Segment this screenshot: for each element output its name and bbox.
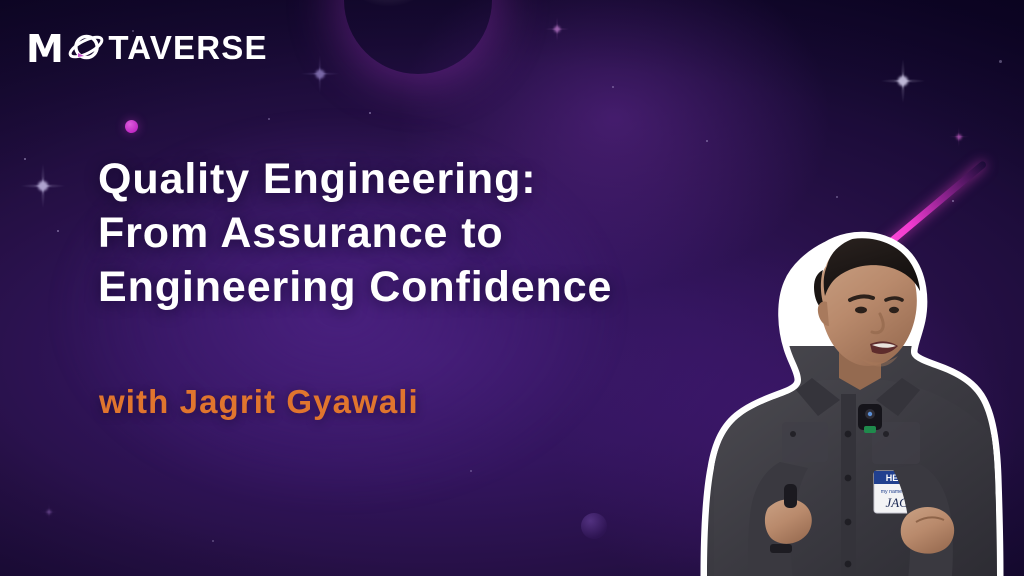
title-line-2: From Assurance to [98, 206, 758, 260]
page-title: Quality Engineering: From Assurance to E… [98, 152, 758, 315]
title-line-3: Engineering Confidence [98, 260, 758, 314]
title-line-1: Quality Engineering: [98, 152, 758, 206]
brand-logo-suffix: TAVERSE [108, 31, 267, 64]
presenter-credit: with Jagrit Gyawali [99, 385, 419, 418]
speaker-figure: HELLO my name is JAG [694, 235, 1006, 576]
speaker-photo: HELLO my name is JAG [694, 226, 1006, 576]
brand-logo[interactable]: M TAVERSE [26, 24, 268, 70]
saturn-planet-icon [65, 26, 107, 68]
slide-canvas: M TAVERSE Quality Engineering: From Assu… [0, 0, 1024, 576]
brand-logo-prefix: M [26, 30, 64, 68]
